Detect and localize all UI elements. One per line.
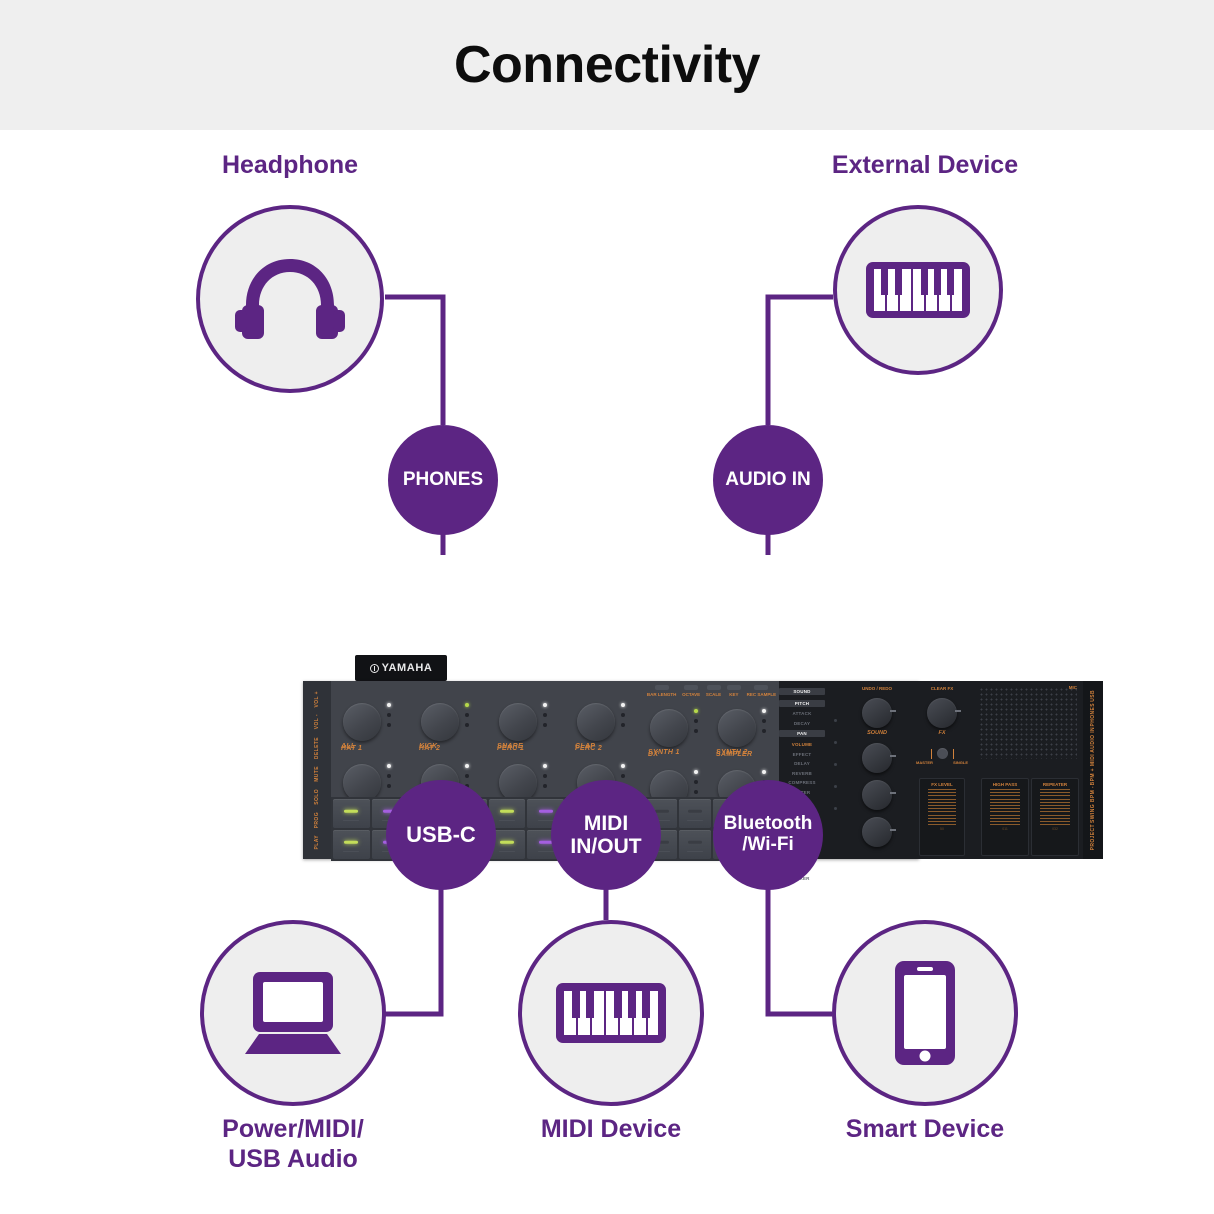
node-label-headphone: Headphone <box>190 151 390 181</box>
menu-item[interactable]: REVERB <box>779 771 825 776</box>
port-label: PHONES <box>1090 703 1096 727</box>
top-label-text: REC SAMPLE <box>747 692 777 697</box>
small-button[interactable] <box>655 685 669 690</box>
slider-title: FX LEVEL <box>920 782 964 787</box>
line-headphone-phones <box>385 297 443 425</box>
port-badge-wireless[interactable]: Bluetooth /Wi-Fi <box>713 780 823 890</box>
menu-item[interactable]: DELAY <box>779 761 825 766</box>
status-dot <box>834 785 837 788</box>
strip-label: PLAY <box>314 835 320 849</box>
port-label: PROJECT <box>1090 824 1096 850</box>
knob-label: HAT 2 <box>419 745 481 752</box>
port-label: USB <box>1090 690 1096 702</box>
knob-label: HAT 1 <box>341 745 403 752</box>
headphones-icon <box>234 253 346 345</box>
page-title: Connectivity <box>454 35 760 95</box>
knob-dial[interactable] <box>499 703 537 741</box>
master-single-labels: MASTER SINGLE <box>909 759 975 765</box>
knob-leds <box>621 703 625 727</box>
clear-fx-label[interactable]: CLEAR FX <box>909 681 975 691</box>
top-label[interactable]: OCTAVE <box>682 685 700 697</box>
knob-label: PERC 1 <box>497 745 559 752</box>
slider-value: 50 <box>920 827 964 831</box>
status-dot-column <box>825 681 845 859</box>
fx-knob[interactable] <box>927 698 957 728</box>
fx-column: CLEAR FX FX MASTER SINGLE FX LEVEL <box>909 681 975 859</box>
speaker-grille-icon <box>979 687 1077 759</box>
param-knob[interactable] <box>862 817 892 847</box>
small-button[interactable] <box>754 685 768 690</box>
menu-item[interactable]: PAN <box>779 730 825 737</box>
node-label-computer: Power/MIDI/ USB Audio <box>173 1115 413 1174</box>
knob-leds <box>694 770 698 794</box>
port-label: AUDIO IN <box>1090 727 1096 753</box>
status-dot <box>834 807 837 810</box>
knob-dial[interactable] <box>421 703 459 741</box>
single-tick-icon <box>953 749 954 759</box>
port-badge-audio-in[interactable]: AUDIO IN <box>713 425 823 535</box>
keyboard-icon <box>555 982 667 1044</box>
strip-label: VOL - <box>314 714 320 729</box>
port-badge-midi-io[interactable]: MIDI IN/OUT <box>551 780 661 890</box>
slider-title: HIGH PASS <box>982 782 1028 787</box>
page-header: Connectivity <box>0 0 1214 130</box>
repeater-slider[interactable]: REPEATER 032 <box>1031 778 1079 856</box>
knob-leds <box>762 709 766 733</box>
menu-item[interactable]: PITCH <box>779 700 825 707</box>
slider-scale <box>920 789 964 825</box>
pad[interactable] <box>679 830 710 859</box>
pad[interactable] <box>333 830 370 859</box>
strip-label: SOLO <box>314 789 320 805</box>
strip-label: PROG <box>314 812 320 828</box>
knob-dial[interactable] <box>718 709 756 747</box>
master-single-selector[interactable] <box>909 748 975 759</box>
knob-label: PERC 2 <box>575 745 637 752</box>
port-label: MIDI <box>1090 754 1096 766</box>
top-label-text: OCTAVE <box>682 692 700 697</box>
single-label: SINGLE <box>953 760 968 765</box>
strip-label: VOL + <box>314 691 320 708</box>
fx-caption: FX <box>909 730 975 736</box>
top-label[interactable]: KEY <box>727 685 741 697</box>
port-label: BPM + <box>1090 768 1096 785</box>
top-label-text: KEY <box>729 692 738 697</box>
knob-dial[interactable] <box>343 703 381 741</box>
knob-label: DX <box>648 751 710 758</box>
menu-item[interactable]: VOLUME <box>779 742 825 747</box>
yamaha-logo-tab: YAMAHA <box>355 655 447 681</box>
master-tick-icon <box>931 749 932 759</box>
port-label: SWING <box>1090 804 1096 823</box>
mic-label: MIC <box>1069 685 1077 690</box>
device-left-strip: VOL + VOL - DELETE MUTE SOLO PROG PLAY <box>303 681 331 859</box>
strip-label: MUTE <box>314 766 320 782</box>
yamaha-wordmark: YAMAHA <box>382 662 433 674</box>
second-panel-top-labels: BAR LENGTH OCTAVE SCALE KEY <box>644 685 779 697</box>
port-badge-usb-c[interactable]: USB-C <box>386 780 496 890</box>
knob-dial[interactable] <box>650 709 688 747</box>
knob-leds <box>387 703 391 727</box>
knob-leds <box>543 703 547 727</box>
sound-knob[interactable] <box>862 698 892 728</box>
pad[interactable] <box>333 799 370 828</box>
node-midi-device[interactable] <box>518 920 704 1106</box>
slider-value: 032 <box>1032 827 1078 831</box>
tuning-fork-icon <box>370 664 379 673</box>
slider-title: REPEATER <box>1032 782 1078 787</box>
knob-label: SAMPLER <box>716 751 778 758</box>
status-dot <box>834 741 837 744</box>
line-wireless-smart <box>768 870 832 1014</box>
menu-item[interactable]: SOUND <box>779 688 825 695</box>
port-label: BPM - <box>1090 786 1096 802</box>
param-knob[interactable] <box>862 780 892 810</box>
master-label: MASTER <box>916 760 933 765</box>
slider-value: 011 <box>982 827 1028 831</box>
smartphone-icon <box>893 959 957 1067</box>
undo-redo-label[interactable]: UNDO / REDO <box>845 681 909 691</box>
knob-dial[interactable] <box>577 703 615 741</box>
laptop-icon <box>239 970 347 1056</box>
top-label[interactable]: REC SAMPLE <box>747 685 777 697</box>
top-label[interactable]: BAR LENGTH <box>647 685 677 697</box>
small-button[interactable] <box>727 685 741 690</box>
sound-knob-column: UNDO / REDO SOUND <box>845 681 909 859</box>
status-dot <box>834 719 837 722</box>
menu-item[interactable]: ATTACK <box>779 711 825 716</box>
fx-level-slider[interactable]: FX LEVEL 50 <box>919 778 965 856</box>
top-label-text: BAR LENGTH <box>647 692 677 697</box>
strip-label: DELETE <box>314 737 320 759</box>
node-headphone[interactable] <box>196 205 384 393</box>
sound-caption: SOUND <box>845 730 909 736</box>
high-pass-slider[interactable]: HIGH PASS 011 <box>981 778 1029 856</box>
slider-scale <box>982 789 1028 825</box>
knob-leds <box>465 764 469 788</box>
keyboard-icon <box>865 261 971 319</box>
node-label-midi-device: MIDI Device <box>511 1115 711 1145</box>
status-dot <box>834 763 837 766</box>
top-label[interactable]: SCALE <box>706 685 721 697</box>
node-external-device[interactable] <box>833 205 1003 375</box>
port-badge-phones[interactable]: PHONES <box>388 425 498 535</box>
pad[interactable] <box>679 799 710 828</box>
connectivity-diagram: Headphone External Device <box>0 130 1214 1214</box>
knob-leds <box>387 764 391 788</box>
knob-leds <box>465 703 469 727</box>
small-button[interactable] <box>684 685 698 690</box>
node-computer[interactable] <box>200 920 386 1106</box>
small-button[interactable] <box>707 685 721 690</box>
master-single-knob[interactable] <box>937 748 948 759</box>
line-usbc-computer <box>384 870 441 1014</box>
line-external-audioin <box>768 297 833 425</box>
slider-scale <box>1032 789 1078 825</box>
param-knob[interactable] <box>862 743 892 773</box>
menu-item[interactable]: DECAY <box>779 721 825 726</box>
speaker-column: MIC HIGH PASS 011 REPEATER <box>975 681 1083 859</box>
knob-leds <box>543 764 547 788</box>
node-label-smart-device: Smart Device <box>822 1115 1028 1145</box>
node-smart-device[interactable] <box>832 920 1018 1106</box>
knob-leds <box>694 709 698 733</box>
top-label-text: SCALE <box>706 692 721 697</box>
node-label-external-device: External Device <box>820 151 1030 181</box>
menu-item[interactable]: EFFECT <box>779 752 825 757</box>
device-right-port-strip: USB PHONES AUDIO IN MIDI BPM + BPM - SWI… <box>1083 681 1103 859</box>
